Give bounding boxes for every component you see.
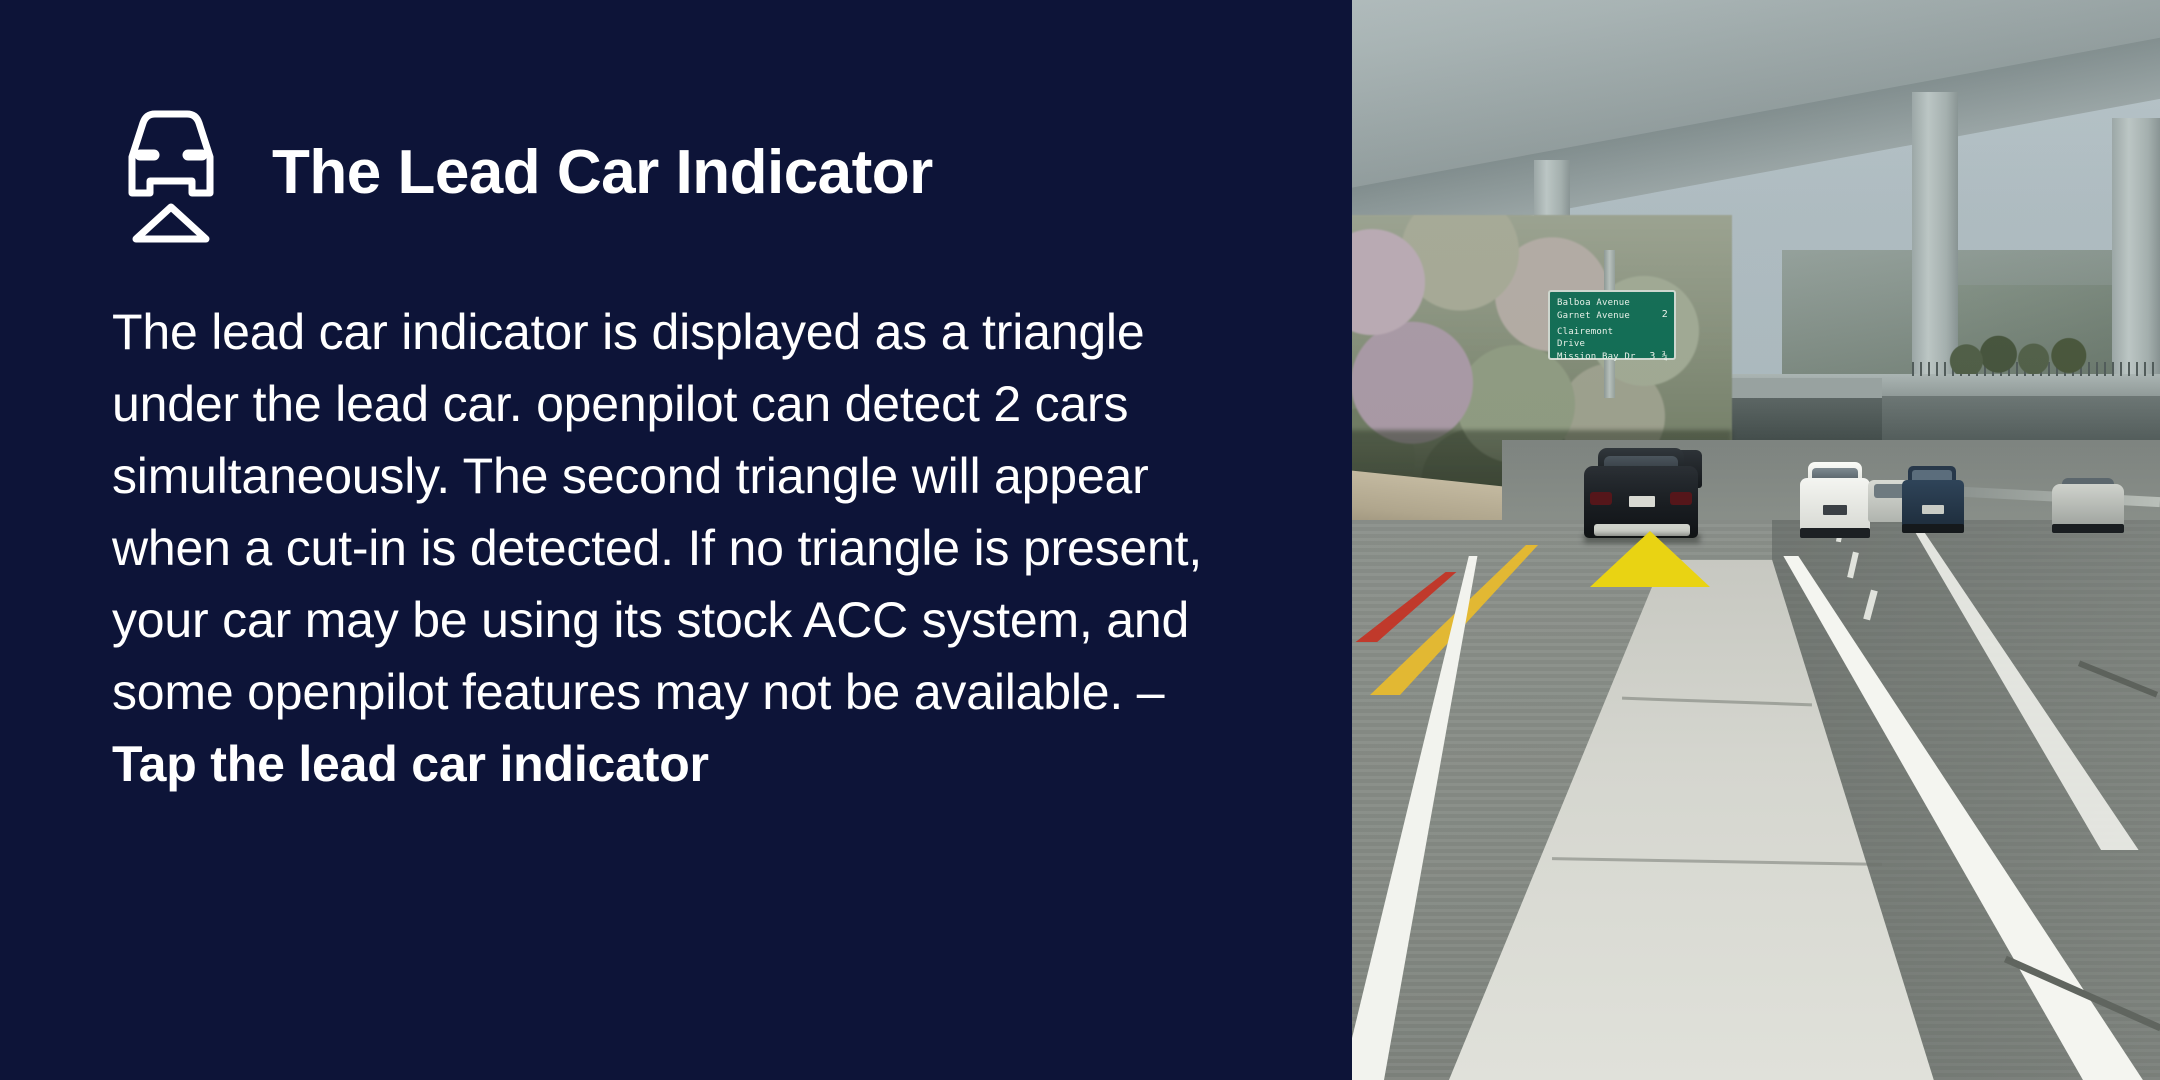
blue-pickup-wheels — [1902, 524, 1964, 533]
slide-root: The Lead Car Indicator The lead car indi… — [0, 0, 2160, 1080]
highway-dashcam-photo: Balboa Avenue Garnet Avenue 2 Clairemont… — [1352, 0, 2160, 1080]
sign-group-2: Clairemont Drive Mission Bay Dr 3 ¾ — [1557, 326, 1668, 364]
lead-car-taillight — [1670, 492, 1692, 505]
white-suv-wheels — [1800, 528, 1870, 538]
lead-car-indicator-icon — [112, 101, 230, 245]
sign-group-1: Balboa Avenue Garnet Avenue 2 — [1557, 297, 1668, 323]
sign-line-3: Clairemont Drive — [1557, 326, 1643, 352]
lead-car-triangle-indicator[interactable] — [1590, 531, 1710, 587]
lead-car-taillight — [1590, 492, 1612, 505]
page-title: The Lead Car Indicator — [272, 140, 933, 205]
description-paragraph: The lead car indicator is displayed as a… — [112, 296, 1256, 800]
silver-sedan-wheels — [2052, 524, 2124, 533]
info-panel: The Lead Car Indicator The lead car indi… — [0, 0, 1352, 1080]
white-suv-plate — [1823, 505, 1847, 515]
lead-car-license-plate — [1629, 496, 1655, 507]
highway-exit-sign: Balboa Avenue Garnet Avenue 2 Clairemont… — [1548, 290, 1676, 360]
blue-pickup-plate — [1922, 505, 1944, 514]
sign-line-1: Balboa Avenue — [1557, 297, 1630, 310]
trees — [1944, 330, 2104, 374]
tap-instruction: Tap the lead car indicator — [112, 736, 709, 792]
sign-distance-1: 2 — [1656, 308, 1668, 322]
sign-line-2: Garnet Avenue — [1557, 310, 1630, 323]
title-row: The Lead Car Indicator — [112, 98, 1256, 248]
sign-distance-2: 3 ¾ — [1643, 350, 1668, 364]
description-text: The lead car indicator is displayed as a… — [112, 304, 1202, 720]
sign-post — [1604, 358, 1615, 398]
sign-line-4: Mission Bay Dr — [1557, 351, 1643, 364]
